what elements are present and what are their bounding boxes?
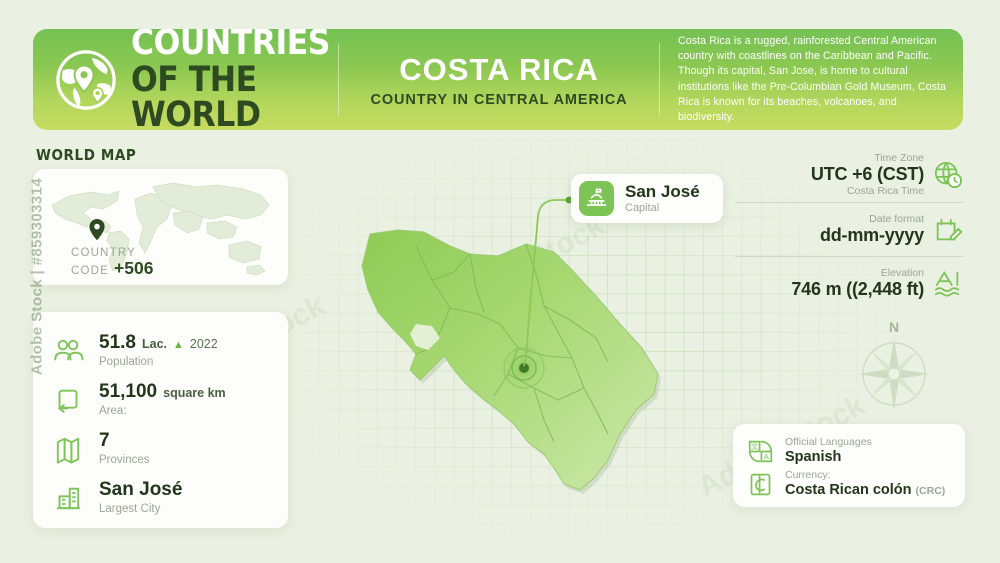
translate-icon: 文 A (747, 438, 774, 465)
brand-logo-group: COUNTRIES OF THE WORLD (33, 29, 338, 130)
country-code-value: +506 (114, 259, 153, 277)
pulse-marker-icon (496, 340, 552, 396)
language-currency-card: 文 A Official Languages Spanish Currency:… (733, 424, 965, 507)
capital-text-group: San José Capital (625, 183, 700, 215)
globe-clock-icon (933, 160, 963, 190)
trend-up-icon: ▲ (173, 339, 184, 351)
capital-badge (579, 181, 614, 216)
stat-value: 7 (99, 430, 110, 451)
colon-currency-icon (747, 471, 774, 498)
stat-label: Provinces (99, 454, 150, 467)
currency-row: Currency: Costa Rican colón (CRC) (733, 468, 965, 501)
stat-value: 51.8 (99, 332, 136, 353)
language-text: Official Languages Spanish (785, 437, 872, 465)
stat-text-provinces: 7 Provinces (99, 430, 150, 466)
info-value: dd-mm-yyyy (820, 225, 924, 245)
watermark-side: Adobe Stock | #859303314 (29, 162, 46, 392)
stat-value-row: San José (99, 479, 182, 500)
info-row-timezone: Time Zone UTC +6 (CST) Costa Rica Time (735, 148, 963, 202)
location-pin-icon (89, 219, 104, 240)
stat-value: 51,100 (99, 381, 157, 402)
compass-rose-icon: N (848, 316, 940, 416)
country-code-label-2: CODE +506 (71, 259, 153, 277)
costa-rica-map (358, 228, 688, 528)
globe-pin-icon (55, 49, 117, 111)
capital-label: Capital (625, 202, 700, 214)
country-title-group: COSTA RICA COUNTRY IN CENTRAL AMERICA (339, 29, 659, 130)
stat-label: Population (99, 356, 218, 369)
stat-row-area: 51,100 square km Area: (33, 375, 288, 424)
infographic-root: Adobe Stock Adobe Stock Adobe Stock COUN… (0, 0, 1000, 563)
info-text-timezone: Time Zone UTC +6 (CST) Costa Rica Time (811, 153, 924, 198)
info-row-elevation: Elevation 746 m ((2,448 ft) (735, 256, 963, 310)
stat-row-largest-city: San José Largest City (33, 473, 288, 522)
svg-text:A: A (764, 452, 770, 461)
info-label: Date format (820, 214, 924, 226)
brand-titles: COUNTRIES OF THE WORLD (131, 29, 338, 130)
stat-label: Area: (99, 405, 226, 418)
currency-text: Currency: Costa Rican colón (CRC) (785, 470, 945, 498)
people-icon (51, 334, 85, 368)
stat-value: San José (99, 479, 182, 500)
info-row-dateformat: Date format dd-mm-yyyy (735, 202, 963, 256)
currency-label: Currency: (785, 470, 945, 482)
info-text-dateformat: Date format dd-mm-yyyy (820, 214, 924, 246)
stat-year: 2022 (190, 337, 218, 351)
info-value: 746 m ((2,448 ft) (791, 279, 924, 299)
country-description: Costa Rica is a rugged, rainforested Cen… (660, 29, 963, 130)
brand-line-2: OF THE WORLD (131, 63, 338, 130)
language-row: 文 A Official Languages Spanish (733, 435, 965, 468)
stat-value-row: 51.8 Lac. ▲ 2022 (99, 332, 218, 353)
country-code-word: CODE (71, 265, 109, 277)
currency-value: Costa Rican colón (785, 482, 912, 498)
country-subtitle: COUNTRY IN CENTRAL AMERICA (370, 92, 627, 108)
area-square-icon (51, 383, 85, 417)
header-banner: COUNTRIES OF THE WORLD COSTA RICA COUNTR… (33, 29, 963, 130)
capital-name: San José (625, 183, 700, 202)
language-value: Spanish (785, 449, 872, 466)
capitol-building-icon (585, 187, 608, 210)
stats-card: 51.8 Lac. ▲ 2022 Population 51,100 squar… (33, 312, 288, 528)
capital-callout-card[interactable]: San José Capital (571, 174, 723, 223)
world-map-title: WORLD MAP (36, 146, 136, 164)
info-label: Elevation (791, 268, 924, 280)
currency-code: (CRC) (916, 485, 946, 497)
info-sub: Costa Rica Time (811, 186, 924, 198)
info-label: Time Zone (811, 153, 924, 165)
stat-unit: Lac. (142, 337, 167, 351)
world-map-card: COUNTRY CODE +506 (33, 169, 288, 285)
folded-map-icon (51, 432, 85, 466)
stat-label: Largest City (99, 503, 182, 516)
stat-value-row: 51,100 square km (99, 381, 226, 402)
info-text-elevation: Elevation 746 m ((2,448 ft) (791, 268, 924, 300)
elevation-mountain-icon (933, 269, 963, 299)
language-label: Official Languages (785, 437, 872, 449)
currency-value-row: Costa Rican colón (CRC) (785, 482, 945, 499)
country-code-label-1: COUNTRY (71, 247, 153, 259)
info-value: UTC +6 (CST) (811, 164, 924, 184)
stat-text-population: 51.8 Lac. ▲ 2022 Population (99, 332, 218, 368)
calendar-edit-icon (933, 215, 963, 245)
stat-row-provinces: 7 Provinces (33, 424, 288, 473)
info-panel: Time Zone UTC +6 (CST) Costa Rica Time D… (735, 148, 963, 310)
brand-line-1: COUNTRIES (131, 29, 338, 61)
stat-text-area: 51,100 square km Area: (99, 381, 226, 417)
compass-north-label: N (889, 319, 899, 335)
city-buildings-icon (51, 481, 85, 515)
stat-row-population: 51.8 Lac. ▲ 2022 Population (33, 326, 288, 375)
stat-text-largest-city: San José Largest City (99, 479, 182, 515)
country-code-group: COUNTRY CODE +506 (71, 247, 153, 277)
stat-value-row: 7 (99, 430, 150, 451)
country-name: COSTA RICA (399, 52, 598, 88)
stat-unit: square km (163, 386, 226, 400)
svg-text:文: 文 (751, 442, 758, 451)
